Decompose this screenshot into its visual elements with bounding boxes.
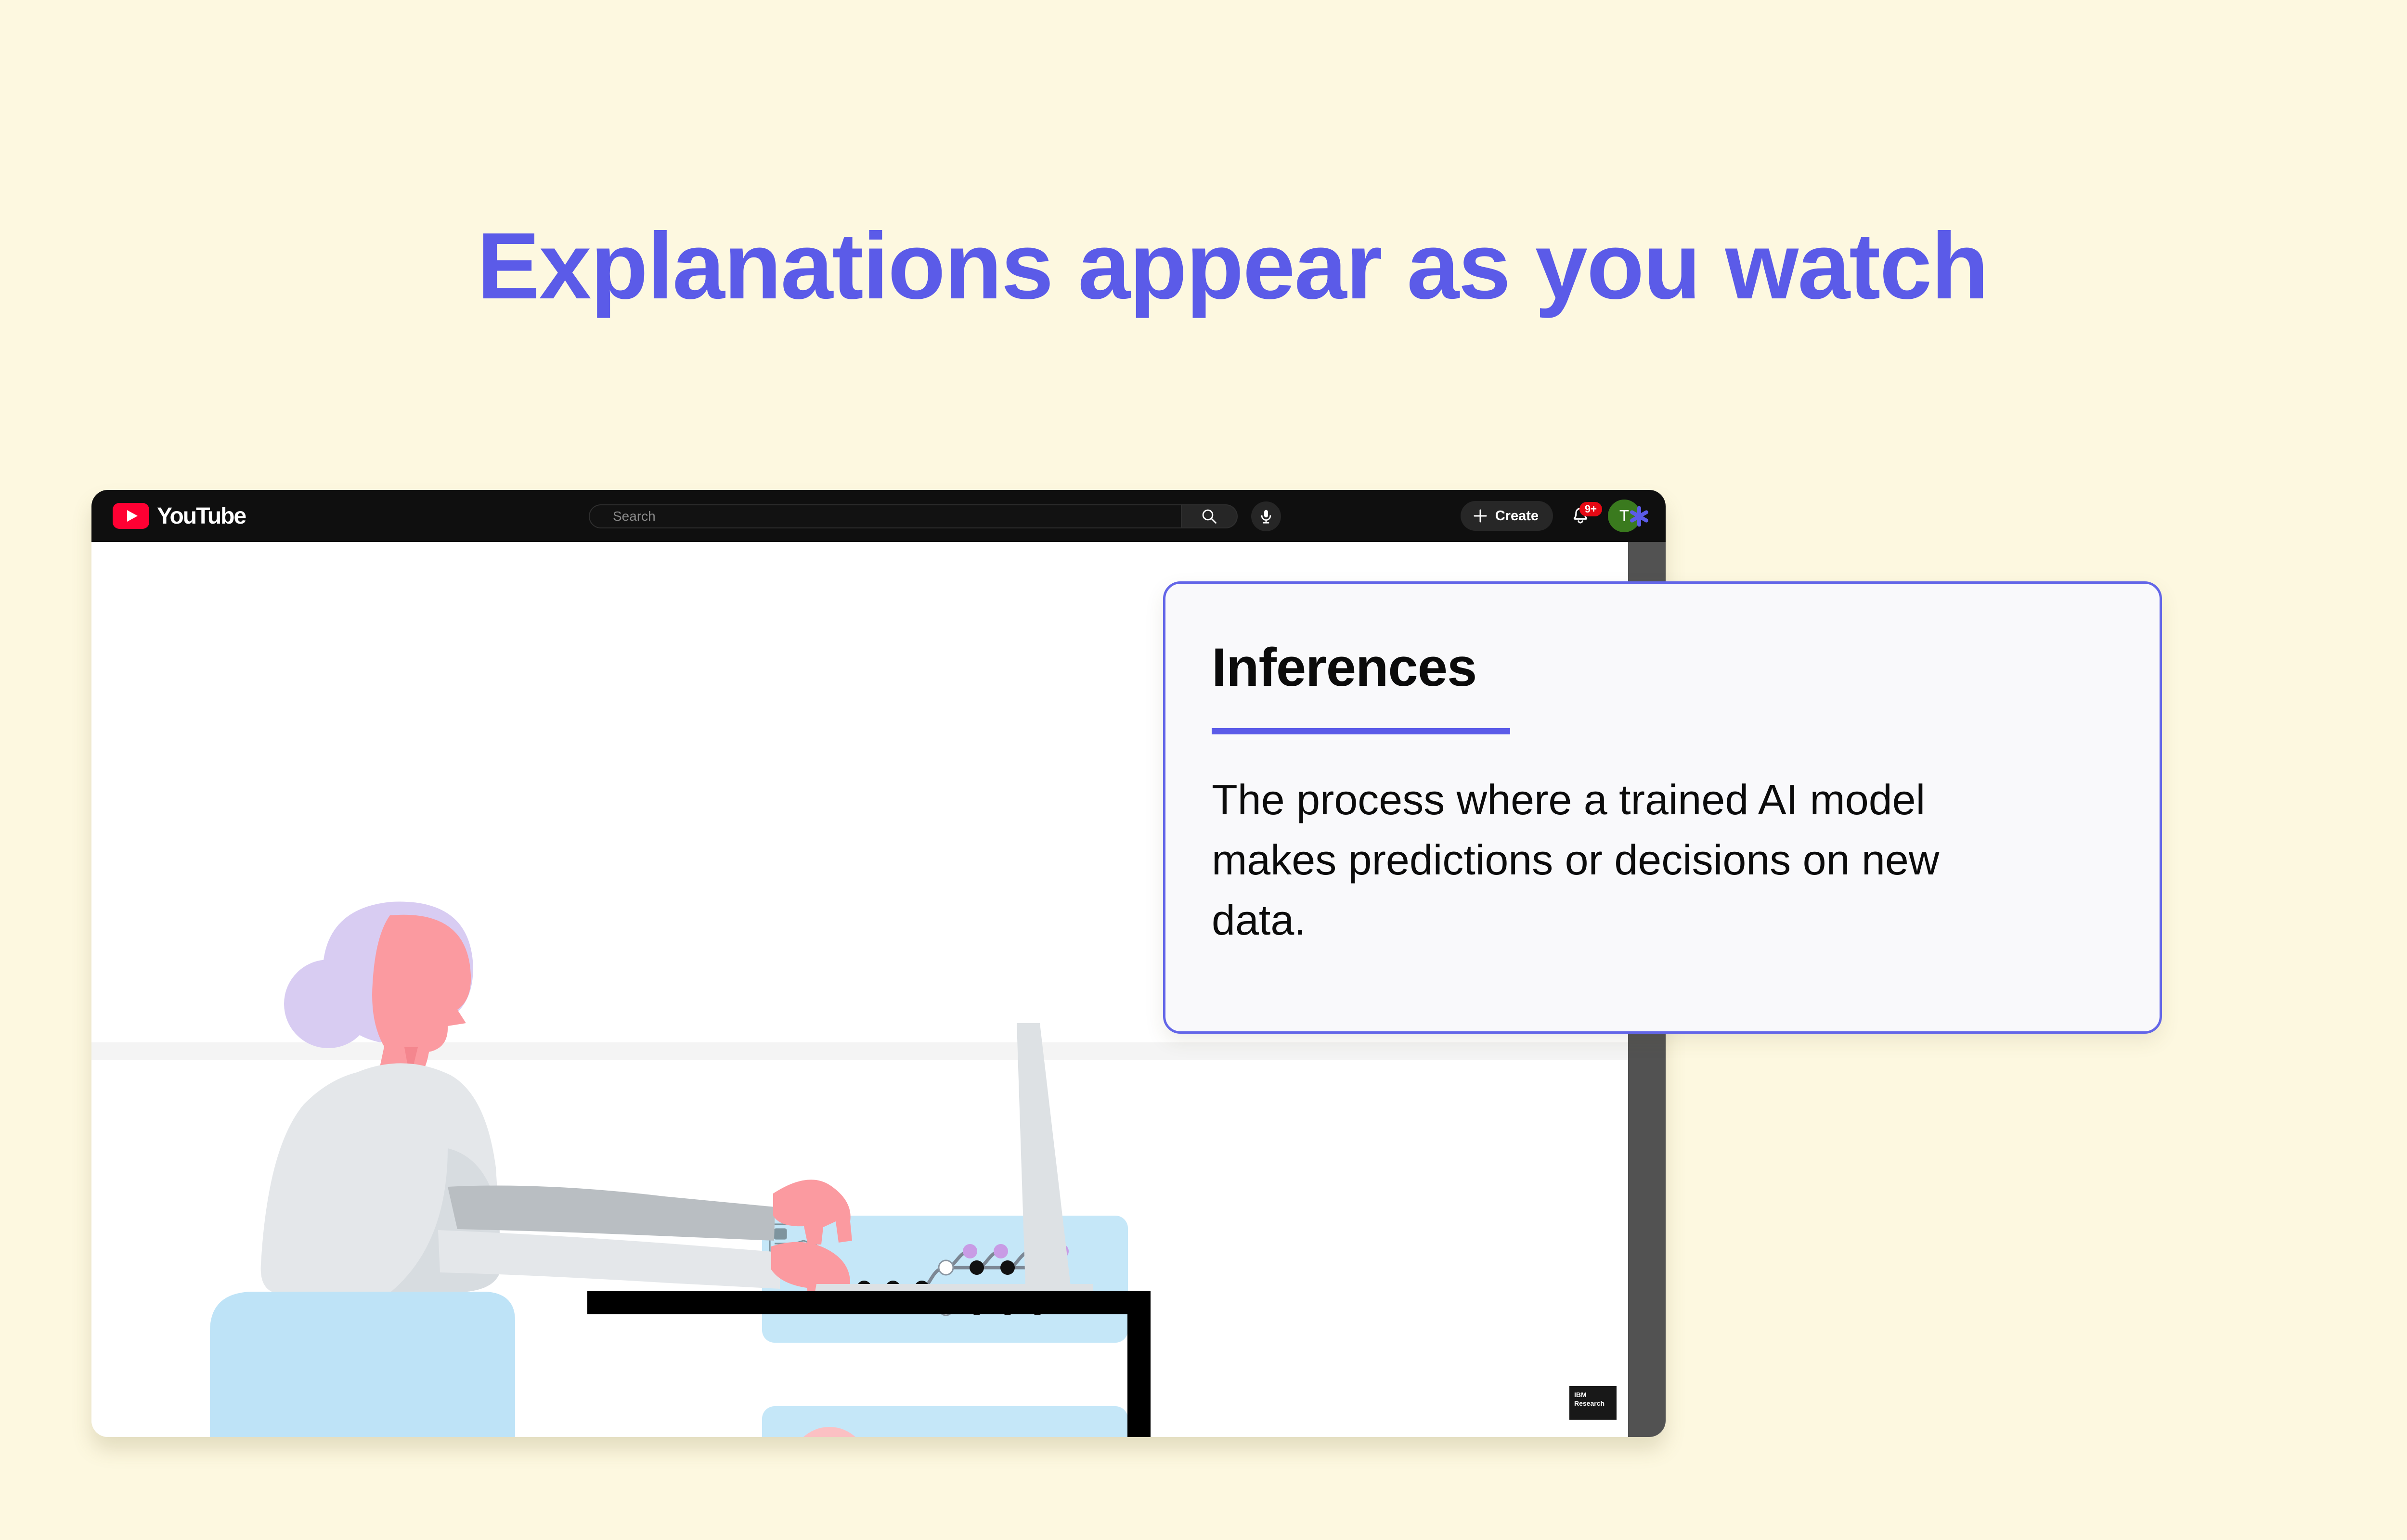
sparkle-asterisk-icon [1628, 505, 1650, 527]
explanation-divider [1212, 728, 1510, 734]
desk-leg [1127, 1291, 1151, 1437]
microphone-icon [1258, 508, 1274, 525]
pants [210, 1292, 515, 1437]
search-submit-button[interactable] [1181, 504, 1238, 528]
voice-search-button[interactable] [1251, 501, 1281, 531]
create-button[interactable]: Create [1461, 501, 1553, 531]
account-avatar-group[interactable]: T [1608, 500, 1651, 532]
desk-surface [587, 1291, 1151, 1314]
create-button-label: Create [1495, 508, 1539, 524]
youtube-wordmark: YouTube [157, 503, 246, 529]
watermark-line-2: Research [1574, 1399, 1617, 1408]
youtube-header-actions: Create 9+ T [1461, 490, 1651, 542]
youtube-logo[interactable]: YouTube [113, 503, 246, 529]
hand-upper [773, 1180, 852, 1245]
page-title: Explanations appear as you watch [0, 212, 2407, 320]
plus-icon [1472, 508, 1488, 524]
laptop-screen [1017, 1023, 1071, 1286]
youtube-play-icon [113, 503, 149, 529]
illustration-woman-typing [178, 879, 1093, 1437]
explanation-body-text: The process where a trained AI model mak… [1212, 770, 2040, 950]
watermark-line-1: IBM [1574, 1391, 1617, 1399]
explanation-tooltip-card[interactable]: Inferences The process where a trained A… [1163, 581, 2162, 1034]
ibm-research-watermark: IBM Research [1569, 1386, 1617, 1420]
youtube-search-group: Search [589, 504, 1281, 528]
notifications-badge: 9+ [1579, 502, 1602, 516]
search-icon [1201, 508, 1218, 525]
search-placeholder: Search [613, 509, 656, 524]
search-input[interactable]: Search [589, 504, 1181, 528]
face [372, 915, 471, 1052]
notifications-button[interactable]: 9+ [1566, 501, 1595, 531]
youtube-header-bar: YouTube Search [91, 490, 1666, 542]
explanation-title: Inferences [1212, 641, 2113, 694]
